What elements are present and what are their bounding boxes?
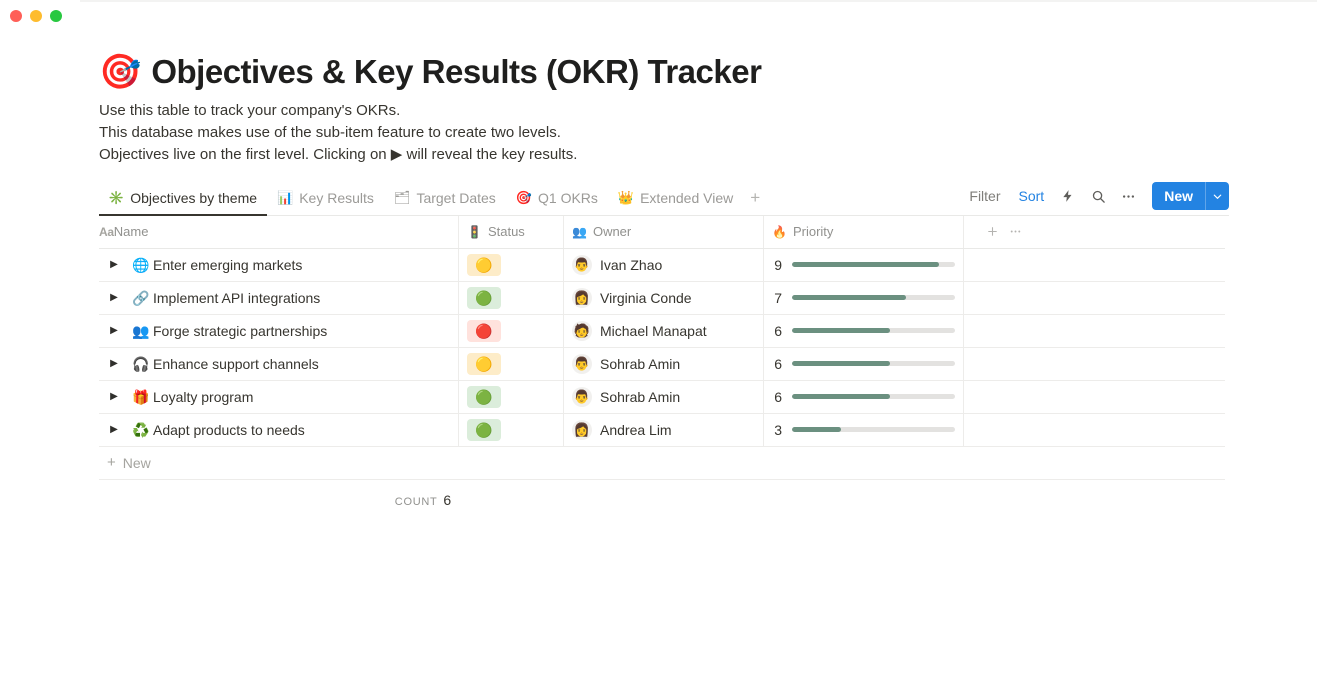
- status-yellow: 🟡: [467, 254, 501, 276]
- status-green: 🟢: [467, 419, 501, 441]
- cell-priority[interactable]: 6: [764, 315, 964, 347]
- table-row[interactable]: ▶🎧Enhance support channels🟡👨Sohrab Amin6: [99, 348, 1225, 381]
- maximize-window-button[interactable]: [50, 10, 62, 22]
- add-row-button[interactable]: + New: [99, 447, 1225, 480]
- avatar: 🧑: [572, 321, 592, 341]
- priority-value: 9: [772, 257, 782, 273]
- cell-owner[interactable]: 🧑Michael Manapat: [564, 315, 764, 347]
- avatar: 👨: [572, 387, 592, 407]
- new-button-group: New: [1152, 182, 1229, 210]
- asterisk-icon: ✳️: [108, 191, 124, 204]
- target-icon: 🎯: [516, 191, 532, 204]
- avatar: 👩: [572, 420, 592, 440]
- window-controls: [10, 10, 62, 22]
- priority-progress-fill: [792, 427, 841, 432]
- owner-name: Andrea Lim: [600, 422, 672, 438]
- expand-row-toggle[interactable]: ▶: [99, 249, 129, 281]
- description-line-3: Objectives live on the first level. Clic…: [99, 144, 1229, 166]
- table-row[interactable]: ▶🌐Enter emerging markets🟡👨Ivan Zhao9: [99, 249, 1225, 282]
- filter-button[interactable]: Filter: [961, 184, 1008, 208]
- search-icon[interactable]: [1084, 183, 1112, 209]
- stacked-list-icon: 🗂: [394, 191, 411, 204]
- priority-value: 6: [772, 356, 782, 372]
- cell-priority[interactable]: 6: [764, 381, 964, 413]
- cell-name: ▶👥Forge strategic partnerships: [99, 315, 459, 347]
- priority-progress-fill: [792, 262, 939, 267]
- new-button[interactable]: New: [1152, 182, 1205, 210]
- cell-status[interactable]: 🔴: [459, 315, 564, 347]
- view-actions: Filter Sort New: [961, 181, 1229, 215]
- priority-progress-bar: [792, 328, 955, 333]
- target-icon: 🎯: [99, 55, 141, 89]
- text-type-icon: Aa: [99, 225, 114, 239]
- tab-extended-view[interactable]: 👑 Extended View: [608, 181, 743, 215]
- cell-priority[interactable]: 7: [764, 282, 964, 314]
- tab-label: Objectives by theme: [130, 190, 257, 206]
- people-icon: 👥: [572, 225, 587, 239]
- row-title[interactable]: Adapt products to needs: [153, 422, 305, 438]
- priority-progress-fill: [792, 394, 890, 399]
- expand-row-toggle[interactable]: ▶: [99, 315, 129, 347]
- cell-priority[interactable]: 3: [764, 414, 964, 446]
- plus-icon: +: [107, 455, 116, 470]
- cell-status[interactable]: 🟢: [459, 381, 564, 413]
- cell-status[interactable]: 🟡: [459, 249, 564, 281]
- priority-value: 6: [772, 389, 782, 405]
- network-share-icon: 🔗: [129, 291, 153, 305]
- page-content: 🎯 Objectives & Key Results (OKR) Tracker…: [99, 52, 1229, 514]
- owner-name: Ivan Zhao: [600, 257, 662, 273]
- cell-empty: [964, 348, 1225, 380]
- count-label: Count: [395, 496, 438, 508]
- cell-empty: [964, 414, 1225, 446]
- column-header-label: Name: [114, 224, 149, 239]
- avatar: 👩: [572, 288, 592, 308]
- column-header-label: Owner: [593, 224, 631, 239]
- page-header: 🎯 Objectives & Key Results (OKR) Tracker: [99, 52, 1229, 92]
- okr-table: Aa Name 🚦 Status 👥 Owner 🔥 Priority: [99, 216, 1225, 480]
- column-header-name[interactable]: Aa Name: [99, 216, 459, 248]
- crown-icon: 👑: [618, 191, 634, 204]
- cell-empty: [964, 249, 1225, 281]
- minimize-window-button[interactable]: [30, 10, 42, 22]
- close-window-button[interactable]: [10, 10, 22, 22]
- owner-name: Sohrab Amin: [600, 356, 680, 372]
- window-titlebar: [0, 0, 1317, 30]
- priority-value: 6: [772, 323, 782, 339]
- cell-status[interactable]: 🟡: [459, 348, 564, 380]
- globe-icon: 🌐: [129, 258, 153, 272]
- tab-label: Key Results: [299, 190, 374, 206]
- cell-priority[interactable]: 6: [764, 348, 964, 380]
- table-row[interactable]: ▶🔗Implement API integrations🟢👩Virginia C…: [99, 282, 1225, 315]
- cell-status[interactable]: 🟢: [459, 414, 564, 446]
- priority-progress-fill: [792, 328, 890, 333]
- people-group-icon: 👥: [129, 324, 153, 338]
- avatar: 👨: [572, 354, 592, 374]
- description-line-1: Use this table to track your company's O…: [99, 100, 1229, 122]
- column-header-label: Priority: [793, 224, 833, 239]
- status-green: 🟢: [467, 287, 501, 309]
- view-tab-list: ✳️ Objectives by theme 📊 Key Results 🗂 T…: [99, 181, 767, 215]
- priority-value: 7: [772, 290, 782, 306]
- cell-empty: [964, 282, 1225, 314]
- table-row[interactable]: ▶🎁Loyalty program🟢👨Sohrab Amin6: [99, 381, 1225, 414]
- owner-name: Sohrab Amin: [600, 389, 680, 405]
- column-header-priority[interactable]: 🔥 Priority: [764, 216, 964, 248]
- table-header-row: Aa Name 🚦 Status 👥 Owner 🔥 Priority: [99, 216, 1225, 249]
- cell-priority[interactable]: 9: [764, 249, 964, 281]
- expand-row-toggle[interactable]: ▶: [99, 414, 129, 446]
- status-yellow: 🟡: [467, 353, 501, 375]
- database-view-bar: ✳️ Objectives by theme 📊 Key Results 🗂 T…: [99, 182, 1229, 216]
- headphones-icon: 🎧: [129, 357, 153, 371]
- gift-icon: 🎁: [129, 390, 153, 404]
- column-header-label: Status: [488, 224, 525, 239]
- column-options-button[interactable]: [1009, 225, 1022, 238]
- tab-label: Extended View: [640, 190, 733, 206]
- page-title[interactable]: Objectives & Key Results (OKR) Tracker: [151, 52, 761, 92]
- cell-status[interactable]: 🟢: [459, 282, 564, 314]
- avatar: 👨: [572, 255, 592, 275]
- cell-name: ▶🌐Enter emerging markets: [99, 249, 459, 281]
- cell-name: ▶♻️Adapt products to needs: [99, 414, 459, 446]
- tab-target-dates[interactable]: 🗂 Target Dates: [384, 181, 506, 215]
- cell-owner[interactable]: 👩Andrea Lim: [564, 414, 764, 446]
- status-green: 🟢: [467, 386, 501, 408]
- more-options-icon[interactable]: [1114, 183, 1142, 209]
- priority-progress-bar: [792, 361, 955, 366]
- table-row[interactable]: ▶👥Forge strategic partnerships🔴🧑Michael …: [99, 315, 1225, 348]
- cell-owner[interactable]: 👨Sohrab Amin: [564, 348, 764, 380]
- cell-name: ▶🎁Loyalty program: [99, 381, 459, 413]
- priority-progress-bar: [792, 394, 955, 399]
- add-row-label: New: [123, 455, 151, 471]
- cell-owner[interactable]: 👩Virginia Conde: [564, 282, 764, 314]
- page-description: Use this table to track your company's O…: [99, 100, 1229, 166]
- tab-label: Q1 OKRs: [538, 190, 598, 206]
- tab-label: Target Dates: [416, 190, 495, 206]
- table-row[interactable]: ▶♻️Adapt products to needs🟢👩Andrea Lim3: [99, 414, 1225, 447]
- cell-owner[interactable]: 👨Ivan Zhao: [564, 249, 764, 281]
- priority-progress-fill: [792, 295, 906, 300]
- add-view-button[interactable]: +: [743, 181, 767, 215]
- recycle-sync-icon: ♻️: [129, 423, 153, 437]
- flame-icon: 🔥: [772, 225, 787, 239]
- priority-progress-fill: [792, 361, 890, 366]
- expand-row-toggle[interactable]: ▶: [99, 348, 129, 380]
- tab-key-results[interactable]: 📊 Key Results: [267, 181, 384, 215]
- cell-owner[interactable]: 👨Sohrab Amin: [564, 381, 764, 413]
- count-value: 6: [443, 492, 451, 508]
- priority-value: 3: [772, 422, 782, 438]
- add-column-button[interactable]: [986, 225, 999, 238]
- cell-name: ▶🔗Implement API integrations: [99, 282, 459, 314]
- chevron-down-icon[interactable]: [1205, 182, 1229, 210]
- automation-lightning-icon[interactable]: [1054, 183, 1082, 209]
- expand-row-toggle[interactable]: ▶: [99, 381, 129, 413]
- cell-name: ▶🎧Enhance support channels: [99, 348, 459, 380]
- priority-progress-bar: [792, 295, 955, 300]
- tab-objectives-by-theme[interactable]: ✳️ Objectives by theme: [99, 181, 267, 215]
- row-title[interactable]: Enhance support channels: [153, 356, 319, 372]
- owner-name: Virginia Conde: [600, 290, 692, 306]
- cell-empty: [964, 381, 1225, 413]
- owner-name: Michael Manapat: [600, 323, 707, 339]
- description-line-2: This database makes use of the sub-item …: [99, 122, 1229, 144]
- expand-row-toggle[interactable]: ▶: [99, 282, 129, 314]
- row-title[interactable]: Forge strategic partnerships: [153, 323, 327, 339]
- priority-progress-bar: [792, 427, 955, 432]
- row-count-summary[interactable]: Count 6: [99, 480, 747, 514]
- table-body: ▶🌐Enter emerging markets🟡👨Ivan Zhao9▶🔗Im…: [99, 249, 1225, 447]
- sort-button[interactable]: Sort: [1011, 184, 1053, 208]
- cell-empty: [964, 315, 1225, 347]
- priority-progress-bar: [792, 262, 955, 267]
- row-title[interactable]: Loyalty program: [153, 389, 253, 405]
- column-header-actions: [964, 216, 1225, 248]
- traffic-light-icon: 🚦: [467, 225, 482, 239]
- bar-chart-icon: 📊: [277, 191, 293, 204]
- row-title[interactable]: Implement API integrations: [153, 290, 320, 306]
- tab-q1-okrs[interactable]: 🎯 Q1 OKRs: [506, 181, 608, 215]
- column-header-owner[interactable]: 👥 Owner: [564, 216, 764, 248]
- status-red: 🔴: [467, 320, 501, 342]
- column-header-status[interactable]: 🚦 Status: [459, 216, 564, 248]
- titlebar-edge: [80, 0, 1317, 2]
- row-title[interactable]: Enter emerging markets: [153, 257, 302, 273]
